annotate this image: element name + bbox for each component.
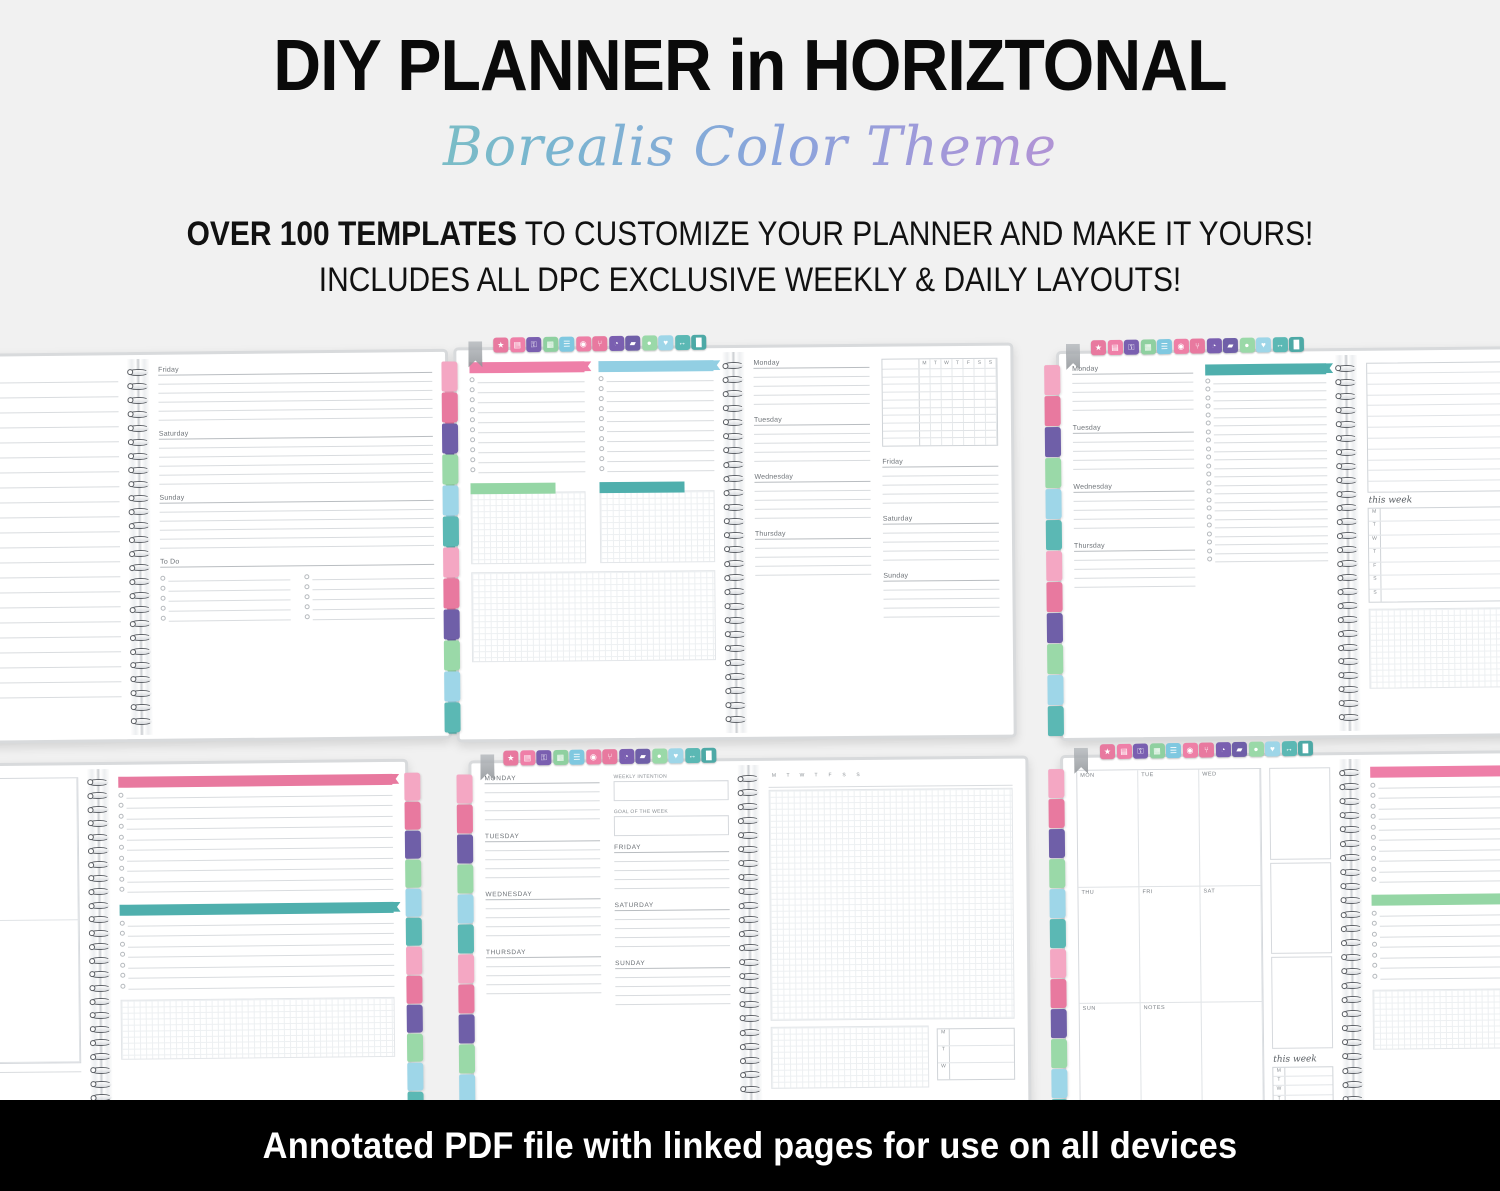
day-cell[interactable] [0,778,79,921]
side-index-tab[interactable] [1046,551,1062,581]
side-index-tab[interactable] [442,392,458,422]
side-index-tab[interactable] [458,924,474,953]
checkbox-circle[interactable] [119,813,124,818]
side-note-box[interactable] [1271,956,1333,1048]
grid-note-box[interactable] [471,491,587,564]
checklist-row[interactable] [1205,394,1326,401]
checklist-row[interactable] [120,970,394,979]
checklist-row[interactable] [599,425,714,432]
side-index-tab[interactable] [404,802,420,830]
checkbox-circle[interactable] [599,406,604,411]
month-cell[interactable]: WED [1199,769,1261,886]
chart-icon[interactable]: █ [701,748,716,763]
planner-book[interactable]: MONTUEWEDTHUFRISATSUNNOTESthis weekMTWTF [1060,749,1500,1137]
side-index-tab[interactable] [1046,520,1062,550]
star-icon[interactable]: ★ [503,750,518,765]
side-index-tab[interactable] [1050,919,1066,948]
checklist-row[interactable] [599,455,714,462]
checkbox-circle[interactable] [1207,531,1212,536]
checkbox-circle[interactable] [1207,497,1212,502]
checklist-row[interactable] [119,852,393,861]
this-week-row[interactable]: S [1369,587,1500,602]
this-week-row[interactable]: T [1369,546,1500,562]
checkbox-circle[interactable] [1371,866,1376,871]
this-week-value[interactable] [1381,560,1500,575]
side-index-tab[interactable] [1048,769,1064,798]
side-index-tab[interactable] [1048,799,1064,828]
checklist-row[interactable] [161,614,291,621]
tracker-row[interactable] [1368,478,1500,491]
this-week-value[interactable] [1285,1086,1332,1095]
planner-book[interactable]: WEDSAT [0,759,412,1135]
checklist-row[interactable] [304,573,434,580]
checkbox-circle[interactable] [1207,522,1212,527]
checklist-row[interactable] [1206,411,1327,418]
checklist-row[interactable] [1206,453,1327,460]
side-index-tab[interactable] [444,609,460,639]
checkbox-circle[interactable] [161,616,166,621]
checkbox-circle[interactable] [119,824,124,829]
month-cell[interactable]: THU [1078,887,1140,1004]
this-week-row[interactable]: W [1369,533,1500,549]
side-index-tab[interactable] [442,454,458,484]
tracker-cell[interactable] [986,438,997,445]
heart-icon[interactable]: ♥ [658,335,673,350]
folder-icon[interactable]: ▰ [625,336,640,351]
lock-icon[interactable]: ⚿ [526,337,541,352]
checkbox-circle[interactable] [599,386,604,391]
checklist-row[interactable] [120,949,394,958]
checkbox-circle[interactable] [1370,782,1375,787]
checklist-row[interactable] [599,435,714,442]
checklist-row[interactable] [470,386,585,393]
checklist-row[interactable] [470,426,585,433]
top-icon-tab-strip[interactable]: ★▤⚿▦☰◉⑂◔▰●♥↔█ [503,748,716,766]
checkbox-circle[interactable] [1206,488,1211,493]
checkbox-circle[interactable] [470,467,475,472]
planner-book[interactable]: MondayTuesdayWednesdayThursdayMTWTFSSFri… [453,343,1016,743]
checklist-row[interactable] [305,603,435,610]
checkbox-circle[interactable] [1371,835,1376,840]
checkbox-circle[interactable] [1207,556,1212,561]
day-cell[interactable] [0,920,80,1063]
calendar-icon[interactable]: ▤ [520,750,535,765]
checklist-row[interactable] [1372,908,1500,917]
checkbox-circle[interactable] [1372,910,1377,915]
grid-note-box[interactable] [121,996,396,1059]
checkbox-circle[interactable] [305,614,310,619]
list-icon[interactable]: ☰ [569,750,584,765]
checklist-row[interactable] [1370,790,1500,799]
side-index-tab[interactable] [406,976,422,1004]
checkbox-circle[interactable] [1206,480,1211,485]
month-cell[interactable]: TUE [1138,770,1200,887]
checkbox-circle[interactable] [1207,514,1212,519]
side-index-tab[interactable] [407,1063,423,1091]
checkbox-circle[interactable] [470,447,475,452]
checklist-row[interactable] [1207,555,1328,562]
grid-note-box[interactable] [771,1025,930,1088]
checkbox-circle[interactable] [1206,420,1211,425]
clock-icon[interactable]: ◔ [1215,742,1230,757]
checkbox-circle[interactable] [470,407,475,412]
checkbox-circle[interactable] [1371,814,1376,819]
this-week-value[interactable] [1285,1067,1332,1076]
calendar-icon[interactable]: ▤ [510,337,525,352]
side-index-tab[interactable] [1044,396,1060,426]
heart-icon[interactable]: ♥ [668,748,683,763]
checklist-row[interactable] [470,436,585,443]
checkbox-circle[interactable] [1206,403,1211,408]
pin-icon[interactable]: ● [1248,742,1263,757]
planner-book[interactable]: FridaySaturdaySundayTo Do [0,349,452,745]
checkbox-circle[interactable] [160,576,165,581]
clock-icon[interactable]: ◔ [609,336,624,351]
side-index-tab[interactable] [1050,949,1066,978]
this-week-row[interactable]: S [1369,573,1500,589]
this-week-table[interactable]: MTW [937,1028,1015,1081]
checkbox-circle[interactable] [119,834,124,839]
side-index-tab[interactable] [458,894,474,923]
this-week-value[interactable] [1381,506,1500,521]
checklist-row[interactable] [1372,939,1500,948]
checklist-row[interactable] [1205,377,1326,384]
lock-icon[interactable]: ⚿ [1133,743,1148,758]
checkbox-circle[interactable] [1207,505,1212,510]
checkbox-circle[interactable] [1206,429,1211,434]
checklist-row[interactable] [1206,402,1327,409]
pin-icon[interactable]: ● [652,748,667,763]
side-index-tab[interactable] [407,1034,423,1062]
this-week-value[interactable] [1381,533,1500,548]
checklist-row[interactable] [1371,853,1500,862]
clock-icon[interactable]: ◔ [619,749,634,764]
checklist-row[interactable] [1370,780,1500,789]
checklist-row[interactable] [470,466,585,473]
checklist-row[interactable] [1207,521,1328,528]
checklist-row[interactable] [118,800,392,809]
checklist-row[interactable] [1371,864,1500,873]
checklist-row[interactable] [599,465,714,472]
checkbox-circle[interactable] [120,983,125,988]
side-index-tab[interactable] [444,671,460,701]
star-icon[interactable]: ★ [1100,744,1115,759]
checklist-row[interactable] [1207,530,1328,537]
checklist-row[interactable] [1371,832,1500,841]
lock-icon[interactable]: ⚿ [1124,340,1139,355]
month-cell-grid[interactable]: MONTUEWEDTHUFRISATSUNNOTES [1076,768,1265,1122]
checklist-row[interactable] [120,928,394,937]
chart-icon[interactable]: █ [1289,337,1304,352]
side-index-tab[interactable] [443,547,459,577]
side-index-tab[interactable] [1051,1039,1067,1068]
star-icon[interactable]: ★ [1091,340,1106,355]
checkbox-circle[interactable] [1206,471,1211,476]
checkbox-circle[interactable] [1372,921,1377,926]
grid-note-box[interactable] [471,570,716,662]
side-index-tab[interactable] [457,804,473,833]
checkbox-circle[interactable] [304,574,309,579]
side-index-tab[interactable] [406,947,422,975]
this-week-row[interactable]: M [938,1029,1014,1047]
checkbox-circle[interactable] [1372,942,1377,947]
checkbox-circle[interactable] [1206,454,1211,459]
this-week-value[interactable] [950,1063,1014,1080]
checklist-row[interactable] [1371,843,1500,852]
checklist-row[interactable] [1372,960,1500,969]
this-week-row[interactable]: W [938,1063,1014,1080]
top-icon-tab-strip[interactable]: ★▤⚿▦☰◉⑂◔▰●♥↔█ [493,335,706,353]
this-week-row[interactable]: M [1369,506,1500,522]
heart-icon[interactable]: ♥ [1265,741,1280,756]
checkbox-circle[interactable] [599,426,604,431]
food-icon[interactable]: ⑂ [602,749,617,764]
checklist-row[interactable] [305,613,435,620]
side-index-tab[interactable] [405,889,421,917]
checklist-row[interactable] [120,980,394,989]
grid-icon[interactable]: ▦ [1140,339,1155,354]
side-index-tab[interactable] [405,860,421,888]
intention-box[interactable] [614,780,729,801]
camera-icon[interactable]: ◉ [576,336,591,351]
folder-icon[interactable]: ▰ [1232,742,1247,757]
checkbox-circle[interactable] [119,855,124,860]
side-index-tab[interactable] [405,831,421,859]
checklist-row[interactable] [470,396,585,403]
side-index-tab[interactable] [1051,1069,1067,1098]
checkbox-circle[interactable] [599,376,604,381]
checkbox-circle[interactable] [161,606,166,611]
checklist-row[interactable] [1206,428,1327,435]
checklist-row[interactable] [1206,436,1327,443]
side-index-tab[interactable] [1046,582,1062,612]
tracker-cell[interactable] [920,439,931,446]
checkbox-circle[interactable] [470,397,475,402]
tracker-cell[interactable] [975,438,986,445]
checklist-row[interactable] [470,376,585,383]
this-week-row[interactable]: T [1369,520,1500,536]
chart-icon[interactable]: █ [1298,741,1313,756]
side-note-box[interactable] [1270,862,1332,954]
checkbox-circle[interactable] [599,446,604,451]
checkbox-circle[interactable] [1206,437,1211,442]
month-cell[interactable]: MON [1077,770,1139,887]
side-index-tab[interactable] [406,918,422,946]
folder-icon[interactable]: ▰ [1223,338,1238,353]
habit-tracker[interactable]: MTWTFSS [881,358,998,447]
side-index-tab[interactable] [459,1044,475,1073]
this-week-value[interactable] [1381,587,1500,602]
checkbox-circle[interactable] [470,437,475,442]
checklist-row[interactable] [119,873,393,882]
checklist-row[interactable] [599,375,714,382]
checkbox-circle[interactable] [160,586,165,591]
checklist-row[interactable] [304,583,434,590]
food-icon[interactable]: ⑂ [592,336,607,351]
checkbox-circle[interactable] [161,596,166,601]
checkbox-circle[interactable] [470,377,475,382]
checklist-row[interactable] [305,593,435,600]
planner-book[interactable]: MONDAYTUESDAYWEDNESDAYTHURSDAYWEEKLY INT… [468,756,1031,1141]
list-icon[interactable]: ☰ [559,337,574,352]
calendar-icon[interactable]: ▤ [1107,340,1122,355]
clock-icon[interactable]: ◔ [1206,338,1221,353]
checkbox-circle[interactable] [1205,386,1210,391]
code-icon[interactable]: ↔ [675,335,690,350]
checkbox-circle[interactable] [118,803,123,808]
checklist-row[interactable] [1207,538,1328,545]
checkbox-circle[interactable] [119,876,124,881]
checkbox-circle[interactable] [1207,548,1212,553]
habit-tracker[interactable]: MTWTFSS [1366,360,1500,493]
tracker-cell[interactable] [942,438,953,445]
side-index-tab[interactable] [1047,675,1063,705]
checkbox-circle[interactable] [120,920,125,925]
checklist-row[interactable] [1206,470,1327,477]
side-index-tab[interactable] [407,1005,423,1033]
checklist-row[interactable] [1206,479,1327,486]
checkbox-circle[interactable] [119,845,124,850]
checklist-row[interactable] [1207,547,1328,554]
checkbox-circle[interactable] [305,594,310,599]
lock-icon[interactable]: ⚿ [536,750,551,765]
side-index-tab[interactable] [441,361,457,391]
checklist-row[interactable] [120,917,394,926]
camera-icon[interactable]: ◉ [1173,339,1188,354]
checklist-row[interactable] [119,821,393,830]
grid-note-box[interactable] [600,490,716,563]
checkbox-circle[interactable] [304,584,309,589]
side-index-tab[interactable] [1049,889,1065,918]
code-icon[interactable]: ↔ [1281,741,1296,756]
planner-book[interactable]: MondayTuesdayWednesdayThursdayMTWTFSSthi… [1056,345,1500,741]
checkbox-circle[interactable] [1372,963,1377,968]
checklist-row[interactable] [1372,929,1500,938]
side-index-tab[interactable] [459,1014,475,1043]
checkbox-circle[interactable] [470,457,475,462]
checkbox-circle[interactable] [1206,463,1211,468]
grid-note-box[interactable] [1372,987,1500,1050]
checklist-row[interactable] [599,385,714,392]
checkbox-circle[interactable] [1206,412,1211,417]
checklist-row[interactable] [119,810,393,819]
checklist-row[interactable] [161,604,291,611]
checklist-row[interactable] [1206,462,1327,469]
food-icon[interactable]: ⑂ [1199,742,1214,757]
checkbox-circle[interactable] [599,436,604,441]
checklist-row[interactable] [470,406,585,413]
checklist-row[interactable] [599,405,714,412]
this-week-value[interactable] [1285,1076,1332,1085]
checkbox-circle[interactable] [120,962,125,967]
checklist-row[interactable] [470,416,585,423]
checkbox-circle[interactable] [1372,931,1377,936]
checkbox-circle[interactable] [1371,845,1376,850]
checkbox-circle[interactable] [120,973,125,978]
side-note-box[interactable] [1269,767,1331,859]
checklist-row[interactable] [119,831,393,840]
checklist-row[interactable] [599,395,714,402]
chart-icon[interactable]: █ [691,335,706,350]
checklist-row[interactable] [1371,822,1500,831]
checklist-row[interactable] [1372,950,1500,959]
checklist-row[interactable] [1371,874,1500,883]
checkbox-circle[interactable] [1206,446,1211,451]
checklist-row[interactable] [470,446,585,453]
side-index-tab[interactable] [1044,365,1060,395]
checklist-row[interactable] [119,884,393,893]
checklist-row[interactable] [599,445,714,452]
code-icon[interactable]: ↔ [1272,337,1287,352]
side-index-tab[interactable] [1050,979,1066,1008]
grid-icon[interactable]: ▦ [543,337,558,352]
checkbox-circle[interactable] [119,887,124,892]
checklist-row[interactable] [1207,504,1328,511]
month-cell[interactable]: FRI [1139,886,1201,1003]
pin-icon[interactable]: ● [642,335,657,350]
checklist-row[interactable] [161,594,291,601]
checkbox-circle[interactable] [599,466,604,471]
tracker-row[interactable] [883,437,997,446]
tracker-cell[interactable] [953,438,964,445]
checklist-row[interactable] [119,842,393,851]
checkbox-circle[interactable] [1205,378,1210,383]
side-index-tab[interactable] [457,864,473,893]
side-index-tab[interactable] [1045,427,1061,457]
side-index-tab[interactable] [443,578,459,608]
grid-note-box[interactable] [1369,606,1500,689]
side-index-tab[interactable] [1045,458,1061,488]
checklist-row[interactable] [599,415,714,422]
folder-icon[interactable]: ▰ [635,749,650,764]
checkbox-circle[interactable] [118,792,123,797]
checkbox-circle[interactable] [470,387,475,392]
tracker-cell[interactable] [964,438,975,445]
checklist-row[interactable] [1207,496,1328,503]
day-cell-grid[interactable]: WEDSAT [0,777,81,1065]
side-index-tab[interactable] [1051,1009,1067,1038]
this-week-value[interactable] [950,1029,1014,1046]
checklist-row[interactable] [1371,811,1500,820]
this-week-value[interactable] [1381,520,1500,535]
side-index-tabs[interactable] [404,773,424,1120]
checkbox-circle[interactable] [599,396,604,401]
checklist-row[interactable] [1206,445,1327,452]
checkbox-circle[interactable] [1371,877,1376,882]
grid-icon[interactable]: ▦ [1149,743,1164,758]
pin-icon[interactable]: ● [1239,338,1254,353]
checkbox-circle[interactable] [1371,803,1376,808]
checklist-row[interactable] [120,938,394,947]
checkbox-circle[interactable] [119,866,124,871]
checkbox-circle[interactable] [470,417,475,422]
checkbox-circle[interactable] [120,941,125,946]
grid-icon[interactable]: ▦ [553,750,568,765]
checklist-row[interactable] [1205,385,1326,392]
checklist-row[interactable] [1206,487,1327,494]
checkbox-circle[interactable] [1372,973,1377,978]
checklist-row[interactable] [120,959,394,968]
side-index-tab[interactable] [442,423,458,453]
checklist-row[interactable] [470,456,585,463]
star-icon[interactable]: ★ [493,337,508,352]
side-index-tab[interactable] [444,702,460,732]
side-index-tab[interactable] [442,485,458,515]
side-index-tab[interactable] [1048,706,1064,736]
checkbox-circle[interactable] [1207,539,1212,544]
checkbox-circle[interactable] [120,931,125,936]
side-index-tab[interactable] [1047,644,1063,674]
